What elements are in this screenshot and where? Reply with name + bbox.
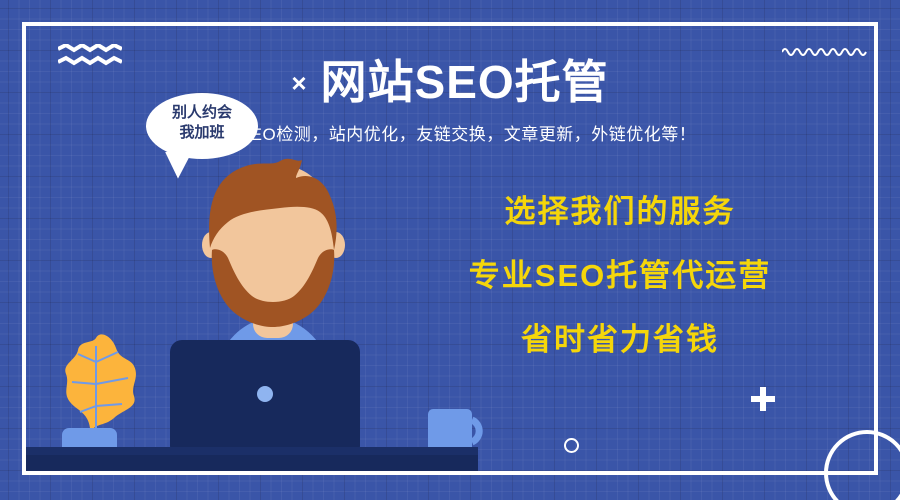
seo-banner: ×网站SEO托管 含：SEO检测，站内优化，友链交换，文章更新，外链优化等！ 选… bbox=[0, 0, 900, 500]
slogan-line-2: 专业SEO托管代运营 bbox=[420, 260, 820, 291]
slogan-list: 选择我们的服务 专业SEO托管代运营 省时省力省钱 bbox=[420, 196, 820, 355]
speech-bubble-line-2: 我加班 bbox=[146, 123, 258, 143]
x-mark-icon: × bbox=[291, 68, 306, 99]
title-text: 网站SEO托管 bbox=[321, 46, 609, 112]
desk-surface bbox=[26, 455, 478, 475]
page-title: ×网站SEO托管 bbox=[0, 46, 900, 112]
slogan-line-1: 选择我们的服务 bbox=[420, 196, 820, 227]
speech-bubble: 别人约会 我加班 bbox=[146, 93, 258, 159]
plus-icon bbox=[751, 387, 775, 411]
subtitle-text: 含：SEO检测，站内优化，友链交换，文章更新，外链优化等！ bbox=[0, 120, 900, 145]
corner-circle-icon bbox=[824, 430, 900, 500]
slogan-line-3: 省时省力省钱 bbox=[420, 324, 820, 355]
small-circle-icon bbox=[564, 438, 579, 453]
speech-bubble-line-1: 别人约会 bbox=[146, 103, 258, 123]
